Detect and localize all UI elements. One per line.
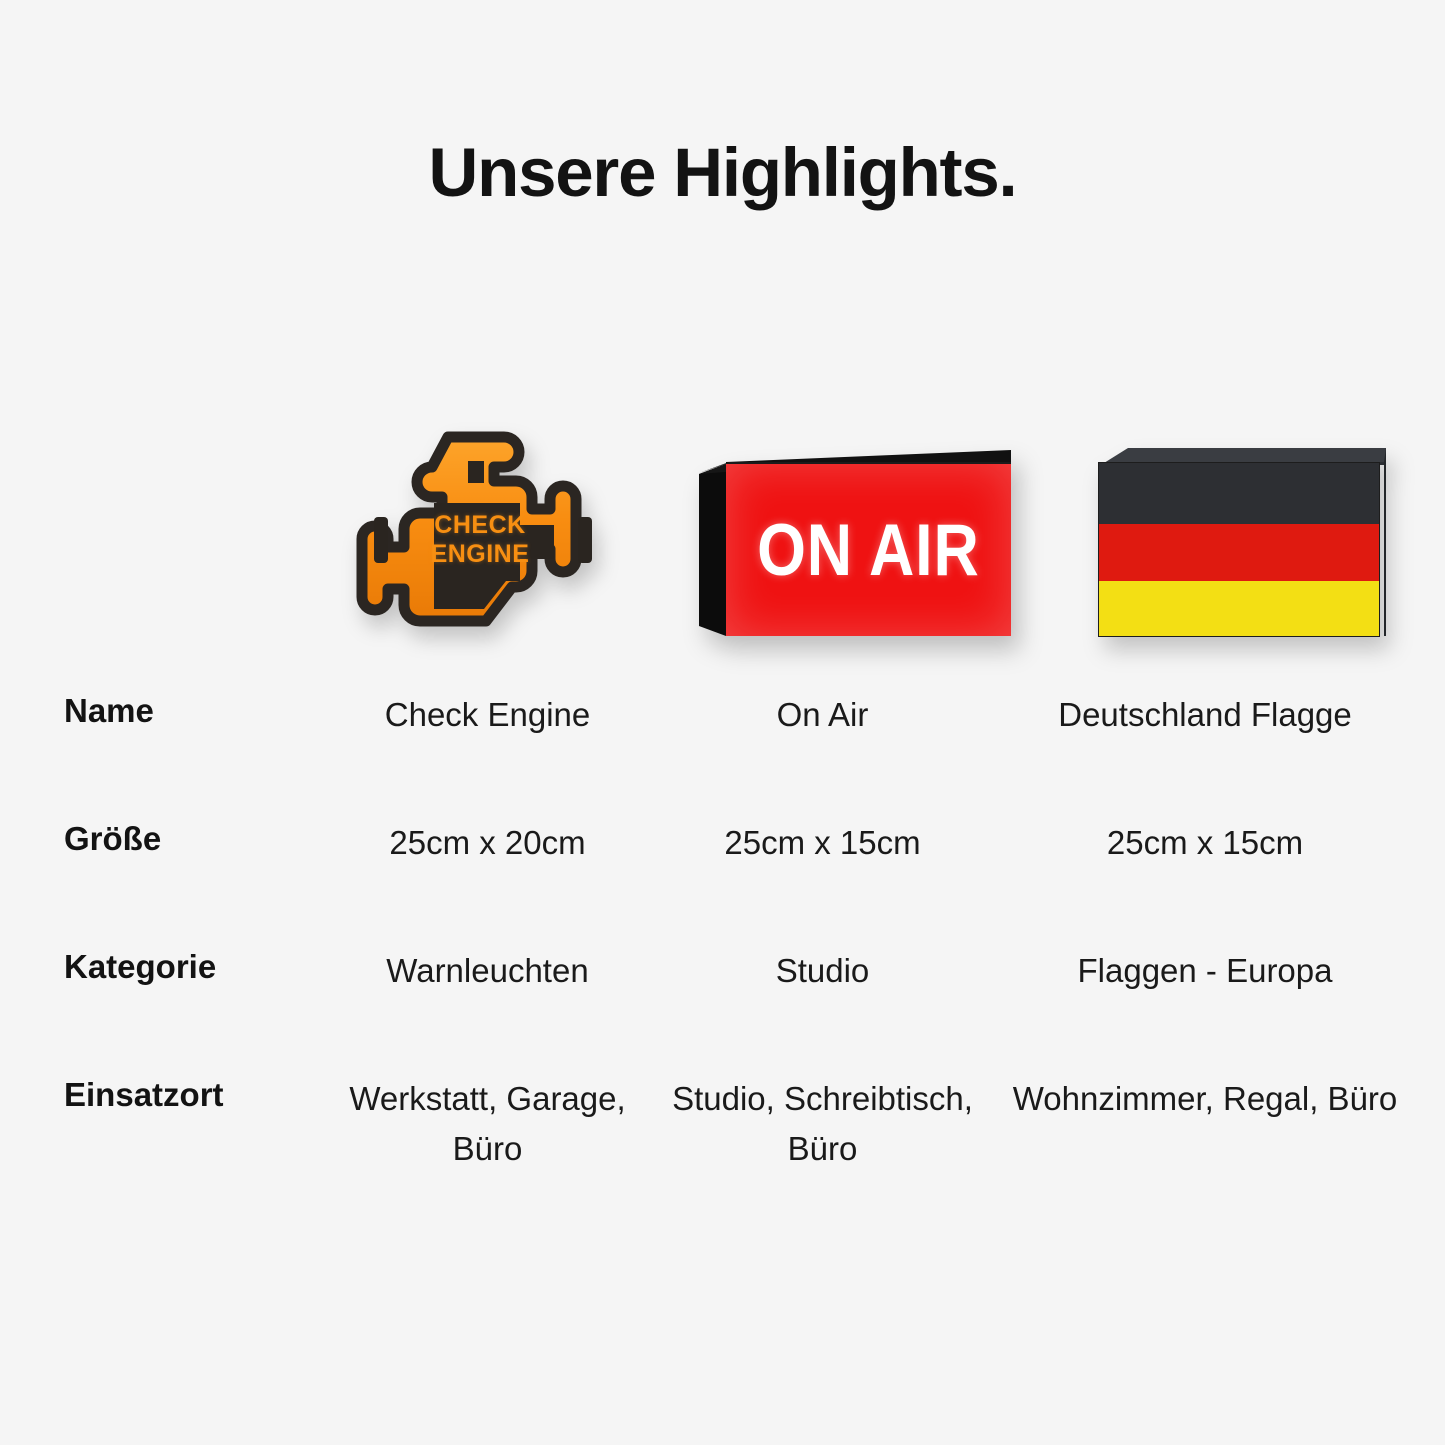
page-title: Unsere Highlights. (0, 138, 1445, 207)
row-label-name: Name (0, 690, 325, 731)
table-row: Einsatzort Werkstatt, Garage, Büro Studi… (0, 1074, 1445, 1244)
cell-location-on-air: Studio, Schreibtisch, Büro (650, 1074, 995, 1174)
cell-location-deutschland-flagge: Wohnzimmer, Regal, Büro (995, 1074, 1415, 1124)
cell-category-deutschland-flagge: Flaggen - Europa (995, 946, 1415, 996)
flag-band-red (1099, 524, 1379, 581)
cell-size-deutschland-flagge: 25cm x 15cm (995, 818, 1415, 868)
flag-band-black (1099, 463, 1379, 524)
germany-flag-face (1098, 462, 1380, 637)
row-label-kategorie: Kategorie (0, 946, 325, 987)
table-row: Name Check Engine On Air Deutschland Fla… (0, 690, 1445, 818)
row-label-einsatzort: Einsatzort (0, 1074, 325, 1115)
flag-band-gold (1099, 581, 1379, 636)
row-label-groesse: Größe (0, 818, 325, 859)
product-image-on-air[interactable]: ON AIR (670, 400, 1040, 680)
cell-category-on-air: Studio (650, 946, 995, 996)
highlights-infographic: Unsere Highlights. (0, 0, 1445, 1445)
product-image-check-engine[interactable]: CHECK ENGINE (290, 400, 670, 680)
cell-location-check-engine: Werkstatt, Garage, Büro (325, 1074, 650, 1174)
table-row: Kategorie Warnleuchten Studio Flaggen - … (0, 946, 1445, 1074)
on-air-light-box-icon: ON AIR (699, 440, 1011, 640)
check-engine-lamp-icon: CHECK ENGINE (330, 425, 630, 655)
on-air-sign-text: ON AIR (757, 514, 980, 587)
cell-name-on-air: On Air (650, 690, 995, 740)
cell-size-check-engine: 25cm x 20cm (325, 818, 650, 868)
comparison-table: Name Check Engine On Air Deutschland Fla… (0, 690, 1445, 1244)
product-image-deutschland-flagge[interactable] (1040, 400, 1420, 680)
on-air-face: ON AIR (726, 464, 1011, 636)
cell-name-check-engine: Check Engine (325, 690, 650, 740)
germany-flag-light-box-icon (1080, 440, 1380, 640)
table-row: Größe 25cm x 20cm 25cm x 15cm 25cm x 15c… (0, 818, 1445, 946)
cell-category-check-engine: Warnleuchten (325, 946, 650, 996)
cell-name-deutschland-flagge: Deutschland Flagge (995, 690, 1415, 740)
cell-size-on-air: 25cm x 15cm (650, 818, 995, 868)
product-image-row: CHECK ENGINE ON AIR (0, 400, 1445, 680)
